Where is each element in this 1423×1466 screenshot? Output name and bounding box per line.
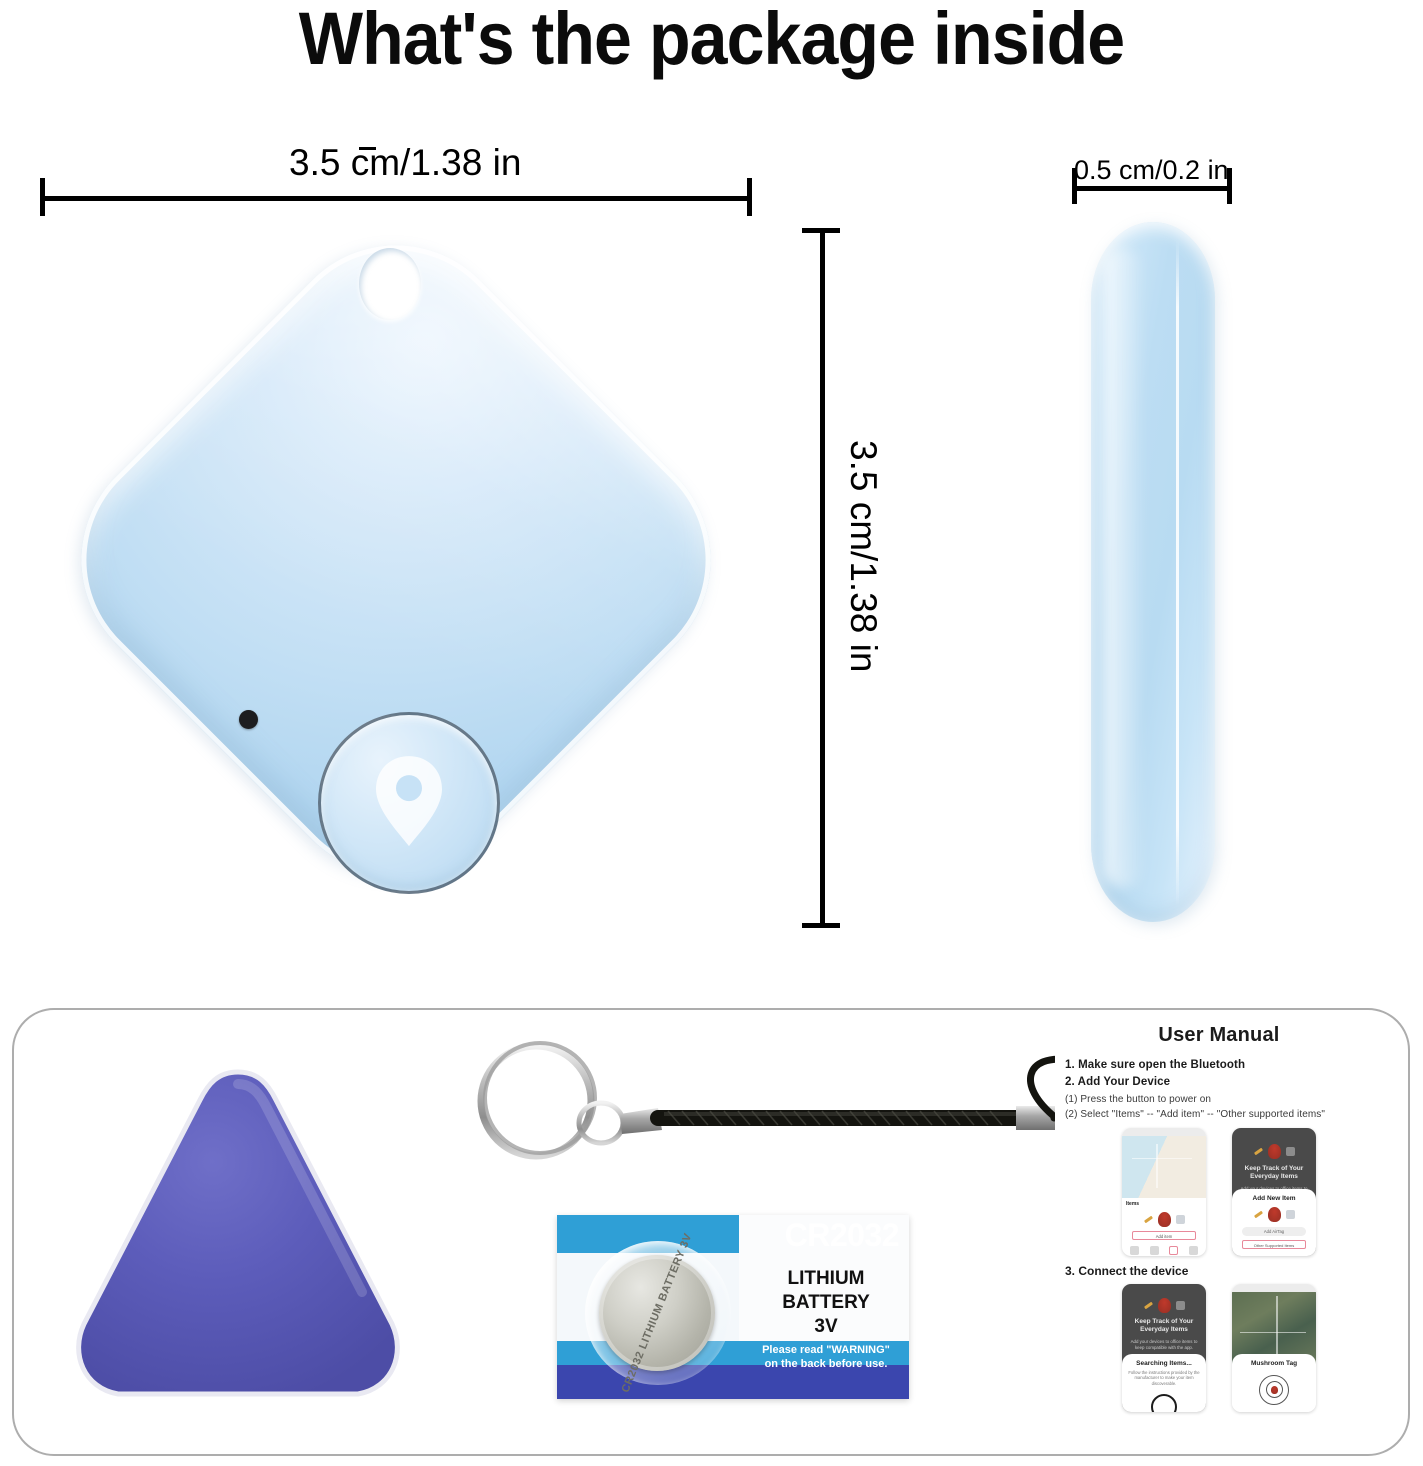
location-pin-icon <box>370 754 448 848</box>
add-new-item-sheet: Add New Item Add AirTag Other Supported … <box>1232 1189 1316 1256</box>
tab-people[interactable] <box>1150 1246 1159 1255</box>
height-dimension-line <box>820 228 825 928</box>
battery-warning-line2: on the back before use. <box>743 1357 909 1371</box>
product-infographic: What's the package inside 3.5 cm/1.38 in… <box>0 0 1423 1466</box>
tab-me[interactable] <box>1189 1246 1198 1255</box>
manual-step-2: 2. Add Your Device <box>1065 1074 1383 1091</box>
manual-steps: 1. Make sure open the Bluetooth 2. Add Y… <box>1065 1057 1383 1122</box>
device-icon <box>1286 1210 1295 1219</box>
led-indicator <box>239 710 258 729</box>
manual-screens-row-2: Keep Track of Your Everyday Items Add yo… <box>1055 1284 1383 1412</box>
connect-sheet: Mushroom Tag Connect <box>1232 1354 1316 1412</box>
battery-warning-line1: Please read "WARNING" <box>743 1343 909 1357</box>
add-new-item-screen: Keep Track of Your Everyday Items Add yo… <box>1232 1128 1316 1256</box>
key-icon <box>1143 1301 1152 1309</box>
screen-header: Keep Track of Your Everyday Items <box>1127 1318 1201 1336</box>
mushroom-tag-icon <box>1271 1386 1278 1394</box>
thickness-dimension-line <box>1072 186 1232 191</box>
coin-cell-battery: CR2032 LITHIUM BATTERY 3V <box>599 1255 715 1371</box>
power-button[interactable] <box>318 712 500 894</box>
height-dimension-cap-top <box>802 228 840 233</box>
keyring-lanyard <box>468 1026 1108 1176</box>
map-road <box>1156 1144 1158 1188</box>
width-dimension-label: 3.5 cm/1.38 in <box>289 142 521 184</box>
map-road <box>1132 1158 1192 1160</box>
battery-type-label: LITHIUM BATTERY 3V <box>743 1267 909 1339</box>
manual-screens-row-1: Items Add item <box>1055 1128 1383 1256</box>
sheet-title: Add New Item <box>1238 1195 1310 1202</box>
keyring-hole <box>359 248 421 320</box>
thickness-dimension-label: 0.5 cm/0.2 in <box>1074 155 1229 186</box>
mushroom-tag-icon <box>1158 1298 1171 1313</box>
tracker-side-gloss <box>1103 248 1143 888</box>
battery-type-line2: BATTERY <box>743 1291 909 1315</box>
tracker-side-seam <box>1176 240 1179 906</box>
phone-status-bar <box>1232 1284 1316 1292</box>
map-road <box>1240 1332 1306 1334</box>
radar-inner <box>1266 1381 1283 1398</box>
phone-map <box>1122 1136 1206 1198</box>
battery-warning-text: Please read "WARNING" on the back before… <box>743 1343 909 1372</box>
searching-items-screen: Keep Track of Your Everyday Items Add yo… <box>1122 1284 1206 1412</box>
tab-items[interactable] <box>1169 1246 1178 1255</box>
map-items-screen: Items Add item <box>1122 1128 1206 1256</box>
height-dimension-cap-bottom <box>802 923 840 928</box>
manual-step-3: 3. Connect the device <box>1065 1264 1383 1278</box>
user-manual-card: User Manual 1. Make sure open the Blueto… <box>1055 1018 1383 1436</box>
screen-body: Add your devices to office items to keep… <box>1127 1339 1201 1351</box>
manual-title: User Manual <box>1055 1024 1383 1047</box>
items-label: Items <box>1126 1201 1206 1207</box>
key-icon <box>1253 1210 1262 1218</box>
battery-type-line1: LITHIUM <box>743 1267 909 1291</box>
mushroom-tag-icon <box>1268 1207 1281 1222</box>
sheet-body: Follow the instructions provided by the … <box>1128 1370 1200 1388</box>
device-icon <box>1176 1301 1185 1310</box>
connect-tag-screen: Mushroom Tag Connect <box>1232 1284 1316 1412</box>
item-icons <box>1127 1298 1201 1313</box>
pry-tool <box>62 1062 414 1410</box>
device-icon <box>1176 1215 1185 1224</box>
add-item-button[interactable]: Add item <box>1132 1231 1196 1240</box>
page-title: What's the package inside <box>57 0 1366 81</box>
mushroom-tag-icon <box>1158 1212 1171 1227</box>
mushroom-tag-icon <box>1268 1144 1281 1159</box>
battery-model-label: CR2032 <box>785 1217 899 1254</box>
bluetooth-tracker-front <box>36 200 756 920</box>
manual-step-1: 1. Make sure open the Bluetooth <box>1065 1057 1383 1074</box>
phone-status-bar <box>1122 1128 1206 1136</box>
manual-substep-2: (2) Select "Items" -- "Add item" -- "Oth… <box>1065 1107 1383 1122</box>
key-icon <box>1253 1147 1262 1155</box>
search-icon <box>1151 1394 1177 1411</box>
width-label-overbar-artifact <box>359 147 376 150</box>
phone-tab-bar <box>1122 1246 1206 1255</box>
cr2032-battery-pack: CR2032 LITHIUM BATTERY 3V Please read "W… <box>557 1215 909 1399</box>
key-icon <box>1143 1215 1152 1223</box>
height-dimension-label: 3.5 cm/1.38 in <box>842 440 884 672</box>
item-icons <box>1122 1212 1206 1227</box>
battery-type-line3: 3V <box>743 1315 909 1339</box>
radar-icon <box>1259 1375 1289 1405</box>
sheet-title: Searching Items... <box>1128 1360 1200 1367</box>
sheet-title: Mushroom Tag <box>1238 1360 1310 1367</box>
screen-header: Keep Track of Your Everyday Items <box>1237 1165 1311 1183</box>
tab-map[interactable] <box>1130 1246 1139 1255</box>
manual-substep-1: (1) Press the button to power on <box>1065 1092 1383 1107</box>
item-icons <box>1238 1207 1310 1222</box>
add-airtag-button[interactable]: Add AirTag <box>1242 1227 1306 1236</box>
device-icon <box>1286 1147 1295 1156</box>
item-icons <box>1237 1144 1311 1159</box>
other-supported-items-button[interactable]: Other Supported Items <box>1242 1240 1306 1249</box>
searching-sheet: Searching Items... Follow the instructio… <box>1122 1354 1206 1412</box>
